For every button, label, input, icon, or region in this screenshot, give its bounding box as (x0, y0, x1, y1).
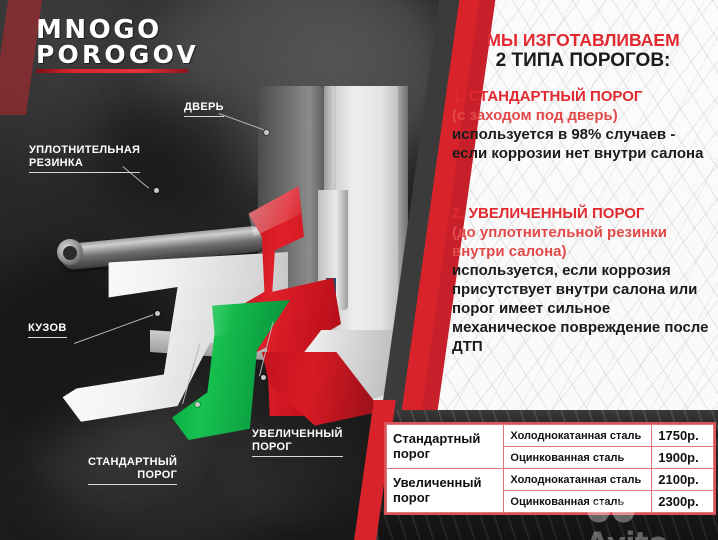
price-value: 1900р. (652, 447, 714, 469)
weatherstrip-bore (63, 246, 77, 260)
callout-body-label: КУЗОВ (28, 322, 67, 335)
callout-standard-sill-label: СТАНДАРТНЫЙ ПОРОГ (88, 456, 177, 482)
callout-standard-sill: СТАНДАРТНЫЙ ПОРОГ (88, 456, 177, 485)
poster-root: ДВЕРЬ УПЛОТНИТЕЛЬНАЯ РЕЗИНКА КУЗОВ СТАНД… (0, 0, 718, 540)
table-row: Увеличенный порог Холоднокатанная сталь … (387, 469, 714, 491)
leader-dot-enlarged (261, 375, 266, 380)
sill-type-2-body: используется, если коррозия присутствует… (452, 261, 714, 356)
sill-type-2-subtitle: (до уплотнительной резинки внутри салона… (452, 223, 714, 261)
callout-underline (29, 172, 140, 174)
price-material: Холоднокатанная сталь (504, 469, 652, 491)
callout-weatherstrip-label: УПЛОТНИТЕЛЬНАЯ РЕЗИНКА (29, 144, 140, 170)
price-table: Стандартный порог Холоднокатанная сталь … (386, 424, 714, 513)
callout-enlarged-sill: УВЕЛИЧЕННЫЙ ПОРОГ (252, 428, 343, 457)
sill-type-1-title: 1. СТАНДАРТНЫЙ ПОРОГ (452, 87, 714, 106)
price-material: Оцинкованная сталь (504, 491, 652, 513)
panel-heading-line-1: МЫ ИЗГОТАВЛИВАЕМ (452, 30, 714, 51)
sill-type-1-body: используется в 98% случаев - если корроз… (452, 125, 714, 163)
leader-dot-standard (195, 402, 200, 407)
price-material: Оцинкованная сталь (504, 447, 652, 469)
callout-weatherstrip: УПЛОТНИТЕЛЬНАЯ РЕЗИНКА (29, 144, 140, 173)
leader-dot-body (155, 311, 160, 316)
leader-dot-seal (154, 188, 159, 193)
brand-logo: MNOGO POROGOV (36, 18, 196, 73)
table-row: Стандартный порог Холоднокатанная сталь … (387, 425, 714, 447)
callout-body: КУЗОВ (28, 322, 67, 338)
sill-type-1-subtitle: (с заходом под дверь) (452, 106, 714, 125)
price-value: 2100р. (652, 469, 714, 491)
sill-type-1-block: 1. СТАНДАРТНЫЙ ПОРОГ (с заходом под двер… (452, 87, 714, 163)
price-type-enlarged: Увеличенный порог (387, 469, 504, 513)
callout-underline (28, 337, 67, 339)
price-value: 2300р. (652, 491, 714, 513)
callout-door-label: ДВЕРЬ (184, 101, 224, 114)
price-value: 1750р. (652, 425, 714, 447)
callout-door: ДВЕРЬ (184, 101, 224, 117)
logo-underline-slash (35, 69, 189, 73)
callout-underline (88, 484, 177, 486)
logo-line-2: POROGOV (36, 43, 196, 67)
callout-enlarged-sill-label: УВЕЛИЧЕННЫЙ ПОРОГ (252, 428, 343, 454)
callout-underline (252, 456, 343, 458)
callout-underline (184, 116, 224, 118)
sill-type-2-block: 2. УВЕЛИЧЕННЫЙ ПОРОГ (до уплотнительной … (452, 204, 714, 356)
price-type-standard: Стандартный порог (387, 425, 504, 469)
panel-heading-line-2: 2 ТИПА ПОРОГОВ: (452, 50, 714, 73)
price-material: Холоднокатанная сталь (504, 425, 652, 447)
sill-type-2-title: 2. УВЕЛИЧЕННЫЙ ПОРОГ (452, 204, 714, 223)
leader-dot-door (264, 130, 269, 135)
